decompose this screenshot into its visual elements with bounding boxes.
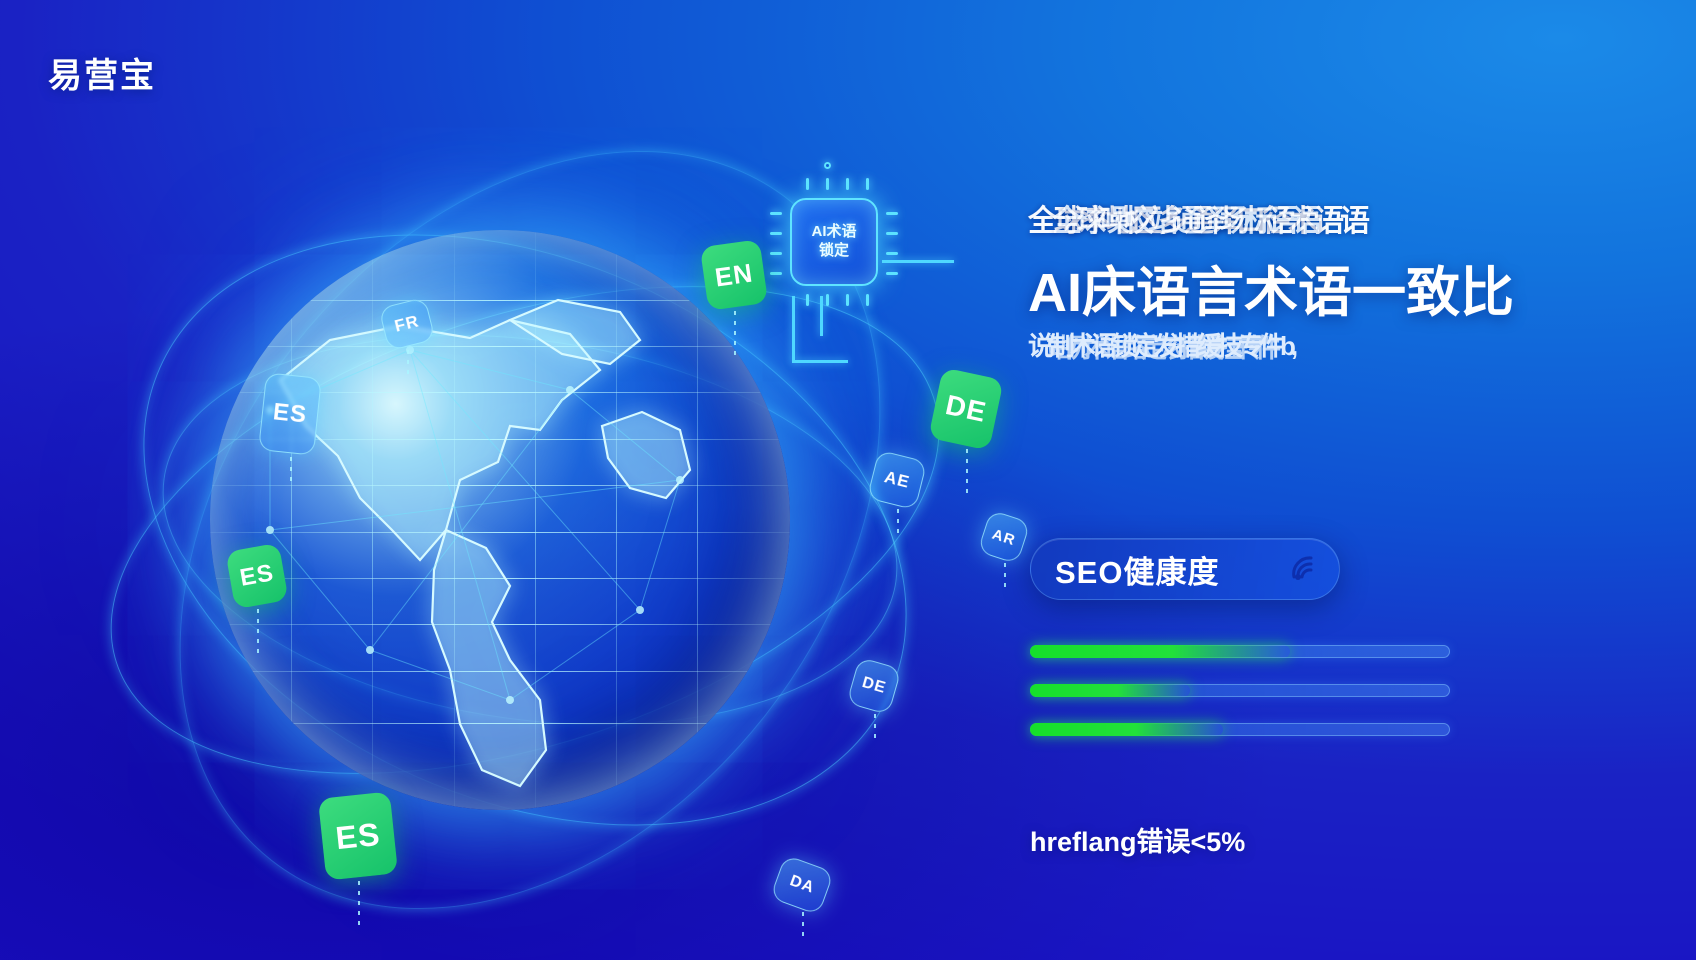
badge-connector-line	[734, 311, 736, 357]
language-badge-es[interactable]: ES	[225, 543, 288, 609]
language-badge-en[interactable]: EN	[700, 239, 768, 311]
badge-connector-line	[358, 881, 360, 927]
badge-connector-line	[802, 912, 804, 942]
ai-term-chip[interactable]: AI术语 锁定	[780, 188, 888, 296]
brand-logo: 易营宝	[48, 48, 156, 97]
seo-score-bar-track	[1030, 645, 1450, 658]
badge-connector-line	[257, 609, 259, 655]
seo-health-label: SEO健康度	[1055, 547, 1287, 592]
language-badge-label: ES	[238, 559, 276, 592]
poster-canvas: 易营宝	[0, 0, 1696, 960]
seo-score-bar-track	[1030, 684, 1450, 697]
content-panel: 全球率地区多通译口径术语语 全球噪校站通译场标语语 AI床语言术语一致比 说制术…	[1020, 0, 1660, 960]
chip-label-line1: AI术语	[811, 223, 856, 242]
seo-score-bar-track	[1030, 723, 1450, 736]
language-badge-label: AR	[990, 525, 1018, 548]
hero-eyebrow-ghost: 全球噪校站通译场标语语	[1052, 196, 1316, 240]
language-badge-da[interactable]: DA	[770, 854, 835, 915]
globe-illustration: AI术语 锁定 ENDEESESESFRAEARDEDA	[90, 110, 990, 910]
language-badge-es[interactable]: ES	[258, 372, 322, 455]
badge-connector-line	[290, 457, 292, 487]
chip-label-line2: 锁定	[819, 242, 849, 261]
badge-connector-line	[1004, 563, 1006, 593]
badge-connector-line	[874, 714, 876, 744]
language-badge-es[interactable]: ES	[318, 791, 398, 880]
language-badge-label: ES	[334, 815, 382, 856]
chip-trace-3	[820, 296, 823, 336]
language-badge-label: EN	[713, 257, 755, 293]
globe-sphere	[210, 230, 790, 810]
language-badge-label: ES	[272, 398, 309, 429]
language-badge-label: DA	[787, 872, 817, 898]
badge-connector-line	[966, 449, 968, 495]
hero-subline-ghost: 站例术语路定滚措缓挂转件	[1046, 328, 1274, 365]
language-badge-de[interactable]: DE	[928, 367, 1004, 450]
seo-health-pill[interactable]: SEO健康度	[1030, 538, 1340, 600]
seo-score-bars	[1030, 645, 1450, 762]
language-badge-label: DE	[860, 674, 888, 698]
seo-score-bar-fill	[1030, 723, 1223, 736]
chip-trace-1	[792, 296, 795, 362]
language-badge-label: AE	[882, 467, 912, 493]
badge-connector-line	[897, 509, 899, 539]
hreflang-metric: hreflang错误<5%	[1030, 820, 1245, 859]
language-badge-label: DE	[943, 389, 990, 429]
hero-headline: AI床语言术语一致比	[1028, 248, 1514, 327]
badge-connector-line	[407, 350, 409, 380]
chip-label: AI术语 锁定	[790, 198, 878, 286]
network-mesh	[210, 230, 790, 810]
hero-subline: 说制术语锁定发措缓技专件b, 站例术语路定滚措缓挂转件	[1028, 326, 1498, 363]
signal-icon	[1287, 552, 1321, 586]
hero-eyebrow: 全球率地区多通译口径术语语 全球噪校站通译场标语语	[1028, 196, 1498, 240]
seo-score-bar-fill	[1030, 645, 1290, 658]
seo-score-bar-fill	[1030, 684, 1190, 697]
chip-trace-2	[792, 360, 848, 363]
chip-trace-4	[882, 260, 954, 263]
language-badge-label: FR	[393, 311, 422, 336]
